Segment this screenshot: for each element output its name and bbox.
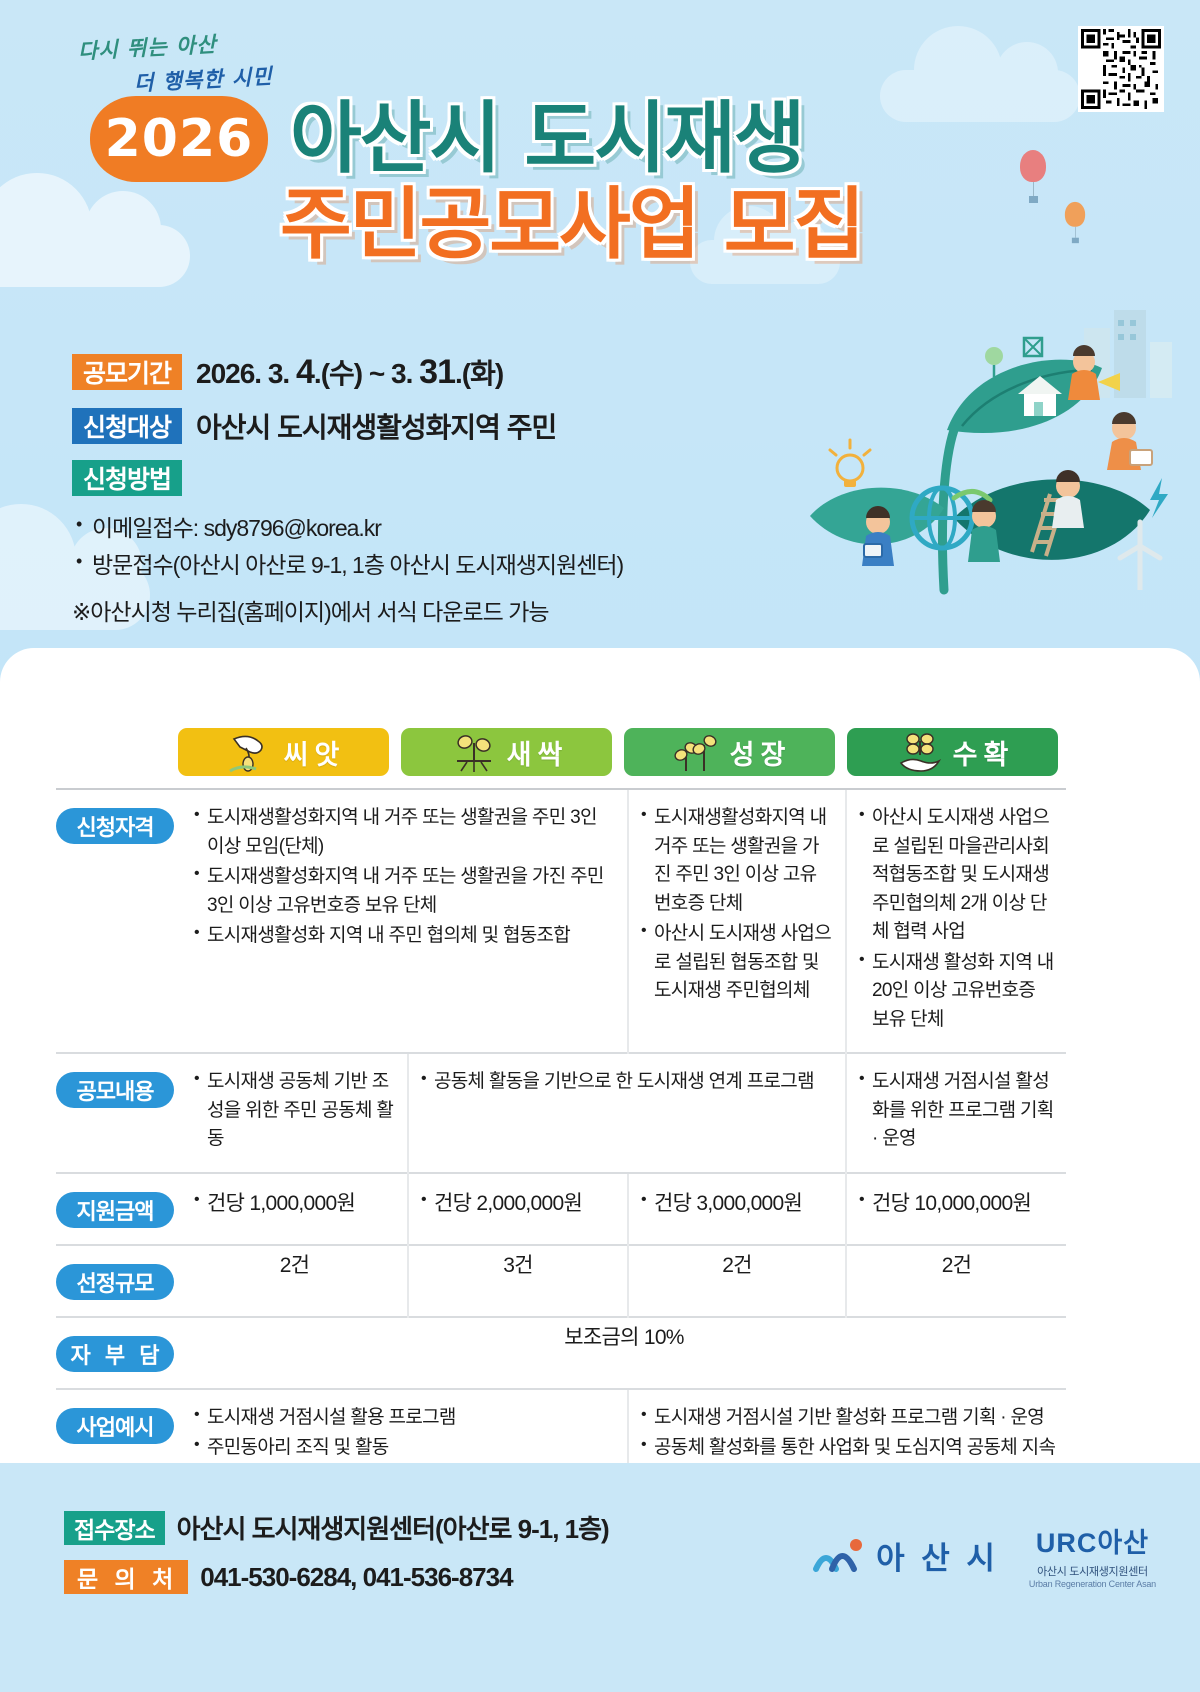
table-row: 선정규모 2건 3건 2건 2건: [56, 1245, 1066, 1317]
row-label-badge: 공모내용: [56, 1072, 174, 1108]
period-label: 공모기간: [72, 354, 182, 390]
footer-row-place: 접수장소 아산시 도시재생지원센터(아산로 9-1, 1층): [64, 1509, 609, 1546]
place-value: 아산시 도시재생지원센터(아산로 9-1, 1층): [177, 1509, 609, 1546]
cell-qualification-harvest: 아산시 도시재생 사업으로 설립된 마을관리사회적협동조합 및 도시재생 주민협…: [846, 789, 1066, 1053]
slogan-line-2: 더 행복한 시민: [133, 60, 273, 97]
slogan-line-1: 다시 뛰는 아산: [77, 28, 217, 65]
list-item: 건당 10,000,000원: [857, 1188, 1056, 1220]
row-label-cell: 자 부 담: [56, 1317, 182, 1389]
cell-content-sprout-growth: 공동체 활동을 기반으로 한 도시재생 연계 프로그램: [408, 1053, 846, 1173]
list-item: 방문접수(아산시 아산로 9-1, 1층 아산시 도시재생지원센터): [72, 547, 732, 584]
row-label-cell: 지원금액: [56, 1173, 182, 1245]
cell-selffund-all: 보조금의 10%: [182, 1317, 1066, 1389]
cell-scale-seed: 2건: [182, 1245, 408, 1317]
list-item: 도시재생활성화지역 내 거주 또는 생활권을 주민 3인 이상 모임(단체): [192, 804, 617, 861]
list-item: 아산시 도시재생 사업으로 설립된 마을관리사회적협동조합 및 도시재생 주민협…: [857, 804, 1056, 947]
urc-asan-logo: URC아산 아산시 도시재생지원센터 Urban Regeneration Ce…: [1029, 1521, 1156, 1589]
city-slogan-logo: 다시 뛰는 아산 더 행복한 시민: [72, 28, 372, 104]
asan-city-logo-text: 아 산 시: [876, 1533, 999, 1578]
list-item: 도시재생 활성화 지역 내 20인 이상 고유번호증 보유 단체: [857, 949, 1056, 1035]
urc-logo-line-2: Urban Regeneration Center Asan: [1029, 1579, 1156, 1589]
info-row-method: 신청방법: [72, 460, 732, 496]
content-card: 씨앗 새싹: [0, 648, 1200, 1463]
urc-logo-line-1: 아산시 도시재생지원센터: [1029, 1563, 1156, 1579]
cell-qualification-growth: 도시재생활성화지역 내 거주 또는 생활권을 가진 주민 3인 이상 고유 번호…: [628, 789, 846, 1053]
cell-qualification-seed: 도시재생활성화지역 내 거주 또는 생활권을 주민 3인 이상 모임(단체) 도…: [182, 789, 628, 1053]
program-table: 신청자격 도시재생활성화지역 내 거주 또는 생활권을 주민 3인 이상 모임(…: [56, 788, 1066, 1511]
stage-tab-harvest[interactable]: 수확: [847, 728, 1058, 776]
year-badge: 2026: [90, 96, 268, 182]
table-row: 지원금액 건당 1,000,000원 건당 2,000,000원 건당 3,00…: [56, 1173, 1066, 1245]
cell-amount-seed: 건당 1,000,000원: [182, 1173, 408, 1245]
row-label-badge: 자 부 담: [56, 1336, 174, 1372]
stage-tab-label: 씨앗: [284, 733, 346, 772]
row-label-badge: 선정규모: [56, 1264, 174, 1300]
list-item: 건당 3,000,000원: [639, 1188, 835, 1220]
method-list: 이메일접수: sdy8796@korea.kr방문접수(아산시 아산로 9-1,…: [72, 510, 732, 585]
target-value: 아산시 도시재생활성화지역 주민: [196, 406, 556, 446]
table-row: 신청자격 도시재생활성화지역 내 거주 또는 생활권을 주민 3인 이상 모임(…: [56, 789, 1066, 1053]
row-label-badge: 지원금액: [56, 1192, 174, 1228]
cell-scale-sprout: 3건: [408, 1245, 628, 1317]
table-row: 자 부 담 보조금의 10%: [56, 1317, 1066, 1389]
asan-city-mark-icon: [812, 1535, 866, 1575]
cell-amount-harvest: 건당 10,000,000원: [846, 1173, 1066, 1245]
cell-content-harvest: 도시재생 거점시설 활성화를 위한 프로그램 기획 · 운영: [846, 1053, 1066, 1173]
row-label-cell: 선정규모: [56, 1245, 182, 1317]
hand-harvest-icon: [897, 731, 943, 773]
cell-scale-harvest: 2건: [846, 1245, 1066, 1317]
asan-city-logo: 아 산 시: [812, 1533, 999, 1578]
stage-tab-label: 성장: [730, 733, 792, 772]
title-line-1: 아산시 도시재생: [290, 100, 803, 178]
growing-plant-icon: [674, 731, 720, 773]
footer-contact-block: 접수장소 아산시 도시재생지원센터(아산로 9-1, 1층) 문 의 처 041…: [64, 1509, 609, 1608]
info-row-period: 공모기간 2026. 3. 4.(수) ~ 3. 31.(화): [72, 352, 732, 392]
list-item: 도시재생활성화지역 내 거주 또는 생활권을 가진 주민 3인 이상 고유번호증…: [192, 863, 617, 920]
community-illustration: [732, 290, 1182, 640]
poster-root: 다시 뛰는 아산 더 행복한 시민: [0, 0, 1200, 1692]
footer-logos: 아 산 시 URC아산 아산시 도시재생지원센터 Urban Regenerat…: [812, 1521, 1156, 1589]
list-item: 건당 2,000,000원: [419, 1188, 617, 1220]
list-item: 도시재생활성화지역 내 거주 또는 생활권을 가진 주민 3인 이상 고유 번호…: [639, 804, 835, 918]
cell-amount-growth: 건당 3,000,000원: [628, 1173, 846, 1245]
list-item: 도시재생활성화 지역 내 주민 협의체 및 협동조합: [192, 922, 617, 951]
stage-tab-growth[interactable]: 성장: [624, 728, 835, 776]
stage-tab-seed[interactable]: 씨앗: [178, 728, 389, 776]
list-item: 공동체 활동을 기반으로 한 도시재생 연계 프로그램: [419, 1068, 835, 1097]
stage-tabs: 씨앗 새싹: [178, 728, 1058, 776]
stage-tab-label: 새싹: [507, 733, 569, 772]
list-item: 주민동아리 조직 및 활동: [192, 1434, 617, 1463]
contact-label: 문 의 처: [64, 1560, 188, 1594]
period-value: 2026. 3. 4.(수) ~ 3. 31.(화): [196, 352, 503, 392]
cell-content-seed: 도시재생 공동체 기반 조성을 위한 주민 공동체 활동: [182, 1053, 408, 1173]
row-label-badge: 신청자격: [56, 808, 174, 844]
list-item: 도시재생 거점시설 기반 활성화 프로그램 기획 · 운영: [639, 1404, 1056, 1433]
cell-scale-growth: 2건: [628, 1245, 846, 1317]
list-item: 이메일접수: sdy8796@korea.kr: [72, 510, 732, 547]
row-label-cell: 공모내용: [56, 1053, 182, 1173]
list-item: 도시재생 공동체 기반 조성을 위한 주민 공동체 활동: [192, 1068, 397, 1154]
cell-amount-sprout: 건당 2,000,000원: [408, 1173, 628, 1245]
list-item: 도시재생 거점시설 활성화를 위한 프로그램 기획 · 운영: [857, 1068, 1056, 1154]
contact-value: 041-530-6284, 041-536-8734: [200, 1562, 512, 1593]
info-row-target: 신청대상 아산시 도시재생활성화지역 주민: [72, 406, 732, 446]
method-label: 신청방법: [72, 460, 182, 496]
title-line-2: 주민공모사업 모집: [280, 186, 863, 264]
poster-footer: 접수장소 아산시 도시재생지원센터(아산로 9-1, 1층) 문 의 처 041…: [0, 1463, 1200, 1692]
sprout-icon: [451, 731, 497, 773]
list-item: 도시재생 거점시설 활용 프로그램: [192, 1404, 617, 1433]
list-item: 아산시 도시재생 사업으로 설립된 협동조합 및 도시재생 주민협의체: [639, 920, 835, 1006]
list-item: 건당 1,000,000원: [192, 1188, 397, 1220]
table-row: 공모내용 도시재생 공동체 기반 조성을 위한 주민 공동체 활동 공동체 활동…: [56, 1053, 1066, 1173]
urc-logo-mark: URC아산: [1029, 1521, 1156, 1560]
stage-tab-sprout[interactable]: 새싹: [401, 728, 612, 776]
info-block: 공모기간 2026. 3. 4.(수) ~ 3. 31.(화) 신청대상 아산시…: [72, 352, 732, 627]
method-items-host: 이메일접수: sdy8796@korea.kr방문접수(아산시 아산로 9-1,…: [72, 510, 732, 585]
footer-row-contact: 문 의 처 041-530-6284, 041-536-8734: [64, 1560, 609, 1594]
download-note: ※아산시청 누리집(홈페이지)에서 서식 다운로드 가능: [72, 593, 732, 627]
poster-title: 2026 아산시 도시재생 주민공모사업 모집: [0, 96, 1200, 264]
hand-sowing-seed-icon: [228, 731, 274, 773]
place-label: 접수장소: [64, 1511, 165, 1545]
row-label-cell: 신청자격: [56, 789, 182, 1053]
row-label-badge: 사업예시: [56, 1408, 174, 1444]
target-label: 신청대상: [72, 408, 182, 444]
stage-tab-label: 수확: [953, 733, 1015, 772]
